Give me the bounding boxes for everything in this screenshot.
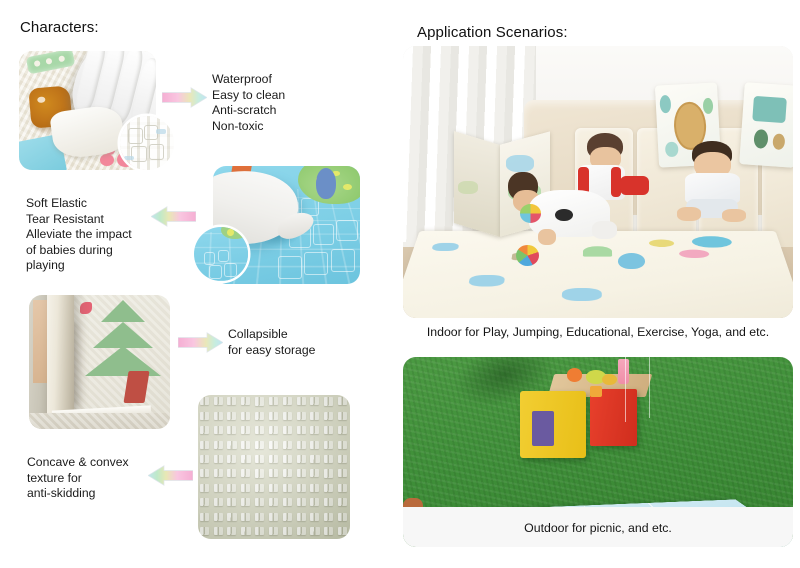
toy-ball-striped [520, 204, 541, 223]
tent-line [649, 357, 650, 418]
feature-line: Soft Elastic [26, 196, 132, 212]
arrow-left-soft-elastic [151, 206, 196, 227]
feature-line: Collapsible [228, 327, 315, 343]
indoor-living-room-kids-photo [403, 46, 793, 318]
drink-bottle [618, 359, 630, 384]
feature-line: Alleviate the impact [26, 227, 132, 243]
mat-surface-closeup-inset [120, 116, 174, 170]
indoor-caption: Indoor for Play, Jumping, Educational, E… [403, 325, 793, 339]
mat-decor [468, 275, 505, 287]
mat-decor [432, 243, 460, 252]
outdoor-picnic-grass-photo [403, 357, 793, 547]
mat-decor [679, 249, 710, 258]
feature-line: for easy storage [228, 343, 315, 359]
mat-tree-pattern [85, 300, 161, 388]
feature-line: Waterproof [212, 72, 285, 88]
mat-decor [649, 239, 675, 247]
arrow-right-collapsible [178, 332, 223, 353]
feature-line: Concave & convex [27, 455, 129, 471]
feature-line: Tear Resistant [26, 212, 132, 228]
feature-line: Anti-scratch [212, 103, 285, 119]
arrow-left-anti-skidding [148, 465, 193, 486]
toy-blue-plush [618, 253, 645, 269]
feature-line: texture for [27, 471, 129, 487]
baby-sitting [676, 141, 750, 228]
characters-section-title: Characters: [20, 19, 99, 36]
feature-text-anti-skidding: Concave & convex texture for anti-skiddi… [27, 455, 129, 502]
anti-skid-texture-photo [198, 395, 350, 539]
feature-text-collapsible: Collapsible for easy storage [228, 327, 315, 358]
feature-line: of babies during [26, 243, 132, 259]
mat-decor [562, 288, 602, 301]
mat-decor [691, 236, 734, 248]
feature-line: Easy to clean [212, 88, 285, 104]
arrow-right-waterproof [162, 87, 207, 108]
feature-text-soft-elastic: Soft Elastic Tear Resistant Alleviate th… [26, 196, 132, 274]
feature-line: playing [26, 258, 132, 274]
outdoor-caption: Outdoor for picnic, and etc. [403, 521, 793, 535]
yellow-storage-box [520, 391, 586, 458]
feature-text-waterproof: Waterproof Easy to clean Anti-scratch No… [212, 72, 285, 134]
floor-surface [29, 413, 170, 429]
photo-vignette [198, 395, 350, 539]
mat-blue-tree-decor [316, 168, 337, 199]
orange-fruit [567, 368, 583, 381]
mat-red-trunk-pattern [124, 371, 150, 403]
red-crate [590, 389, 637, 446]
feature-line: Non-toxic [212, 119, 285, 135]
blue-mat-closeup-inset [194, 227, 248, 281]
juice-glass [590, 386, 602, 397]
application-scenarios-section-title: Application Scenarios: [417, 24, 568, 41]
tent-line [625, 357, 626, 422]
mat-green-bar-decor [26, 51, 75, 74]
folded-mat-photo [29, 295, 170, 429]
feature-line: anti-skidding [27, 486, 129, 502]
